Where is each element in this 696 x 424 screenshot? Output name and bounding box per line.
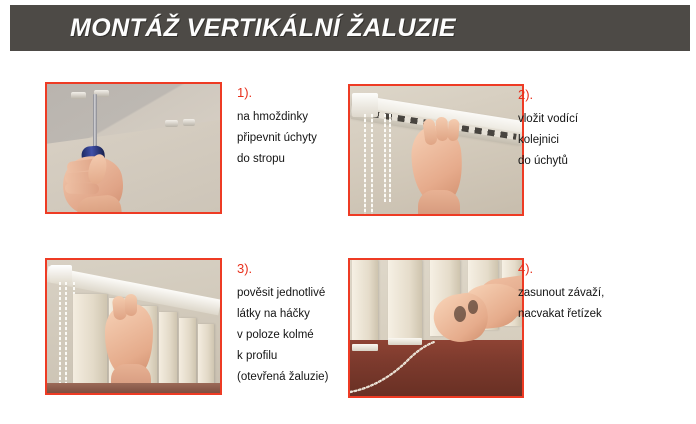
hand-finger xyxy=(435,117,448,142)
step-3-caption: 3). pověsit jednotlivé látky na háčky v … xyxy=(237,258,328,388)
fabric-slat xyxy=(73,294,107,392)
step-3-line-5: (otevřená žaluzie) xyxy=(237,367,328,388)
hand-finger xyxy=(65,182,99,194)
fabric-slat xyxy=(159,312,177,392)
cord-strand xyxy=(389,114,391,202)
cord-strand xyxy=(364,114,366,214)
hand-finger xyxy=(125,294,137,316)
step-3-line-2: látky na háčky xyxy=(237,304,328,325)
step-4-line-1: zasunout závaží, xyxy=(518,283,604,304)
control-cords xyxy=(362,114,392,214)
hand-shadow xyxy=(468,300,478,314)
photo-scene-screwdriver xyxy=(47,84,220,212)
step-2-line-3: do úchytů xyxy=(518,151,578,172)
page-title: MONTÁŽ VERTIKÁLNÍ ŽALUZIE xyxy=(70,14,456,43)
step-1-number: 1). xyxy=(237,82,317,104)
photo-scene-rail-install xyxy=(350,86,522,214)
step-4-number: 4). xyxy=(518,258,604,280)
step-3-line-4: k profilu xyxy=(237,346,328,367)
step-2-photo xyxy=(348,84,524,216)
step-1-line-2: připevnit úchyty xyxy=(237,128,317,149)
step-3-line-1: pověsit jednotlivé xyxy=(237,283,328,304)
step-3-photo xyxy=(45,258,222,395)
ceiling-bracket-icon xyxy=(165,120,178,127)
ceiling-bracket-icon xyxy=(183,119,195,126)
track-end-cap xyxy=(50,265,72,283)
photo-scene-hanging-slats xyxy=(47,260,220,393)
bead-chain-icon xyxy=(350,326,522,396)
step-1-caption: 1). na hmoždinky připevnit úchyty do str… xyxy=(237,82,317,170)
ceiling-bracket-icon xyxy=(71,92,86,99)
photo-scene-weights-chain xyxy=(350,260,522,396)
hand-finger xyxy=(447,119,460,142)
header-bar: MONTÁŽ VERTIKÁLNÍ ŽALUZIE xyxy=(10,5,690,51)
cord-strand xyxy=(371,114,373,214)
cord-strand xyxy=(384,114,386,202)
fabric-slat xyxy=(198,324,214,392)
cord-strand xyxy=(59,282,61,390)
hand-shadow xyxy=(454,306,466,322)
step-1-line-3: do stropu xyxy=(237,149,317,170)
screwdriver-shaft xyxy=(93,94,97,150)
step-2-caption: 2). vložit vodící kolejnici do úchytů xyxy=(518,84,578,172)
step-4-caption: 4). zasunout závaží, nacvakat řetízek xyxy=(518,258,604,325)
cord-strand xyxy=(65,282,67,390)
steps-grid: 1). na hmoždinky připevnit úchyty do str… xyxy=(0,60,696,424)
floor-surface xyxy=(47,383,220,393)
hand-wrist xyxy=(418,190,460,216)
step-4-line-2: nacvakat řetízek xyxy=(518,304,604,325)
step-1-photo xyxy=(45,82,222,214)
step-2-line-1: vložit vodící xyxy=(518,109,578,130)
step-3-number: 3). xyxy=(237,258,328,280)
step-3-line-3: v poloze kolmé xyxy=(237,325,328,346)
step-2-number: 2). xyxy=(518,84,578,106)
step-1-line-1: na hmoždinky xyxy=(237,107,317,128)
fabric-slat xyxy=(179,318,196,392)
step-4-photo xyxy=(348,258,524,398)
step-2-line-2: kolejnici xyxy=(518,130,578,151)
